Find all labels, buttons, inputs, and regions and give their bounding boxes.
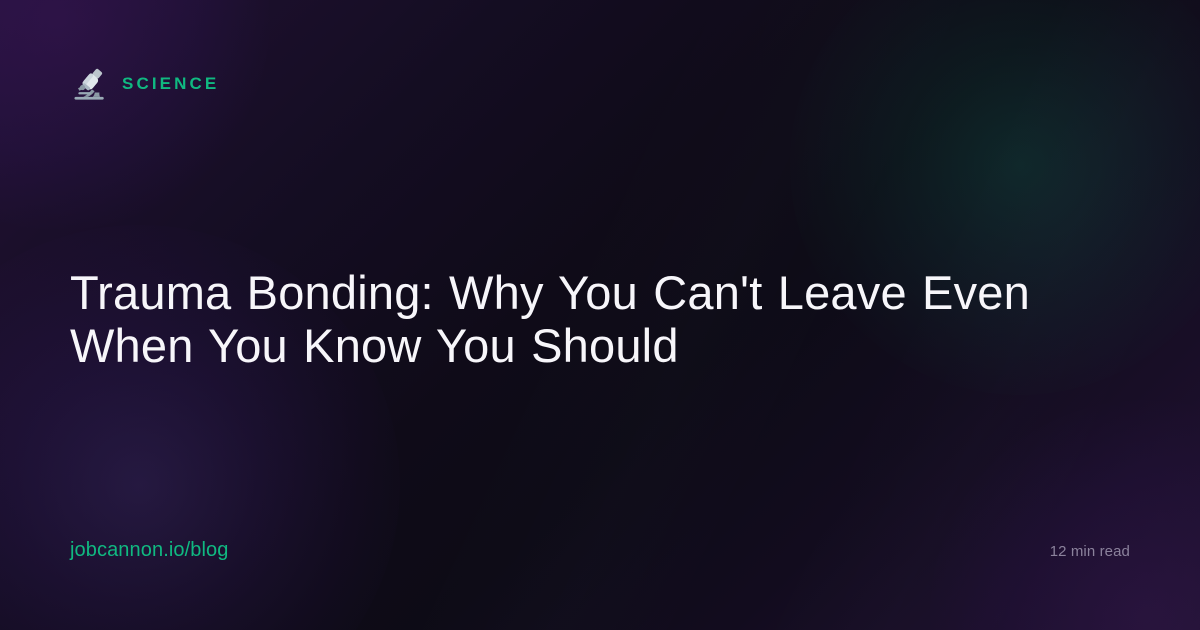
read-time: 12 min read — [1050, 544, 1130, 559]
category-label: SCIENCE — [122, 75, 219, 92]
card-footer: jobcannon.io/blog 12 min read — [70, 540, 1130, 560]
card-content: SCIENCE Trauma Bonding: Why You Can't Le… — [0, 0, 1200, 630]
microscope-icon — [70, 64, 108, 102]
site-url[interactable]: jobcannon.io/blog — [70, 540, 229, 560]
category-badge: SCIENCE — [70, 60, 219, 106]
social-share-card: SCIENCE Trauma Bonding: Why You Can't Le… — [0, 0, 1200, 630]
page-title: Trauma Bonding: Why You Can't Leave Even… — [70, 266, 1080, 372]
